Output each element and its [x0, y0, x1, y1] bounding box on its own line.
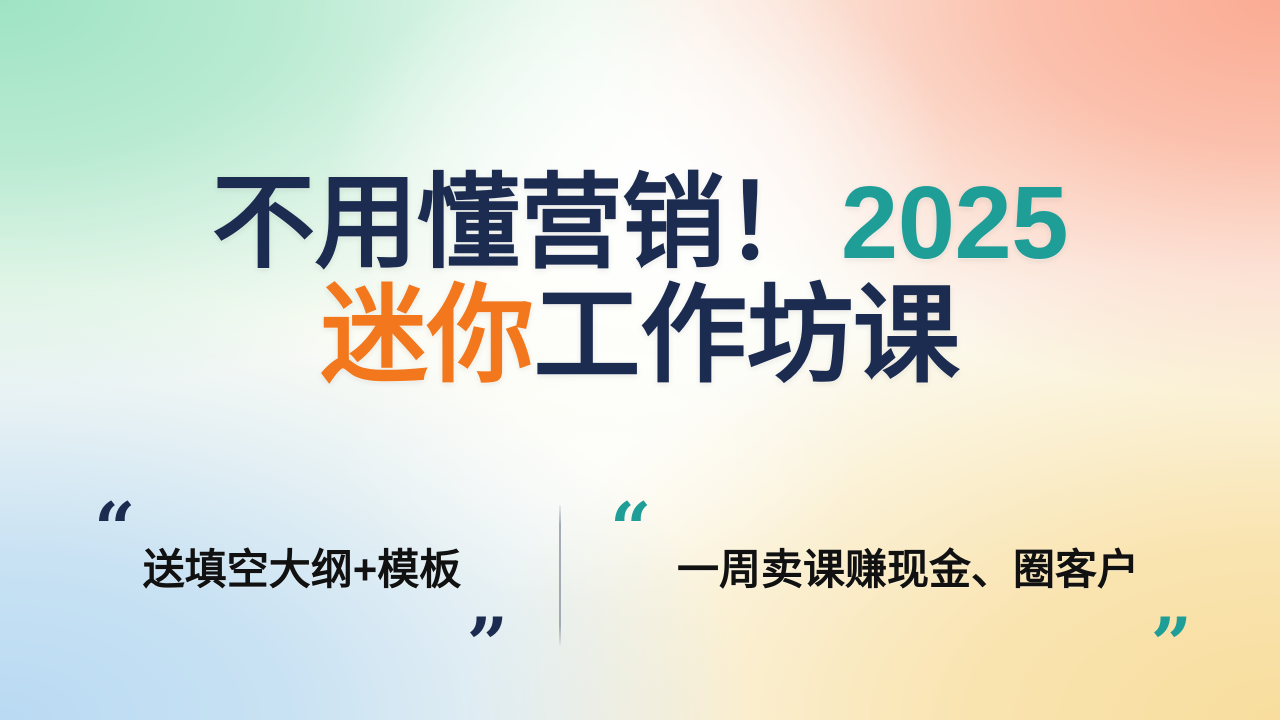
subtitle-left: “ 送填空大纲+模板 ”: [62, 497, 542, 662]
subtitle-right: “ 一周卖课赚现金、圈客户 ”: [588, 497, 1228, 662]
quote-close-icon: ”: [1151, 608, 1192, 680]
subtitle-right-text: 一周卖课赚现金、圈客户: [588, 545, 1228, 595]
headline-line-2-navy-segment: 工作坊课: [534, 275, 960, 395]
promo-poster: 不用懂营销！2025 迷你工作坊课 “ 送填空大纲+模板 ” “ 一周卖课赚现金…: [0, 0, 1280, 720]
headline-block: 不用懂营销！2025 迷你工作坊课: [0, 171, 1280, 389]
quote-close-icon: ”: [467, 608, 508, 680]
headline-line-1: 不用懂营销！2025: [0, 171, 1280, 274]
headline-line-1-navy-segment: 不用懂营销！: [212, 165, 827, 280]
headline-year: 2025: [841, 165, 1068, 280]
headline-line-2: 迷你工作坊课: [0, 282, 1280, 389]
subtitle-divider: [559, 505, 561, 645]
subtitle-row: “ 送填空大纲+模板 ” “ 一周卖课赚现金、圈客户 ”: [0, 497, 1280, 662]
headline-line-2-orange-segment: 迷你: [321, 275, 534, 395]
subtitle-left-text: 送填空大纲+模板: [62, 545, 542, 595]
